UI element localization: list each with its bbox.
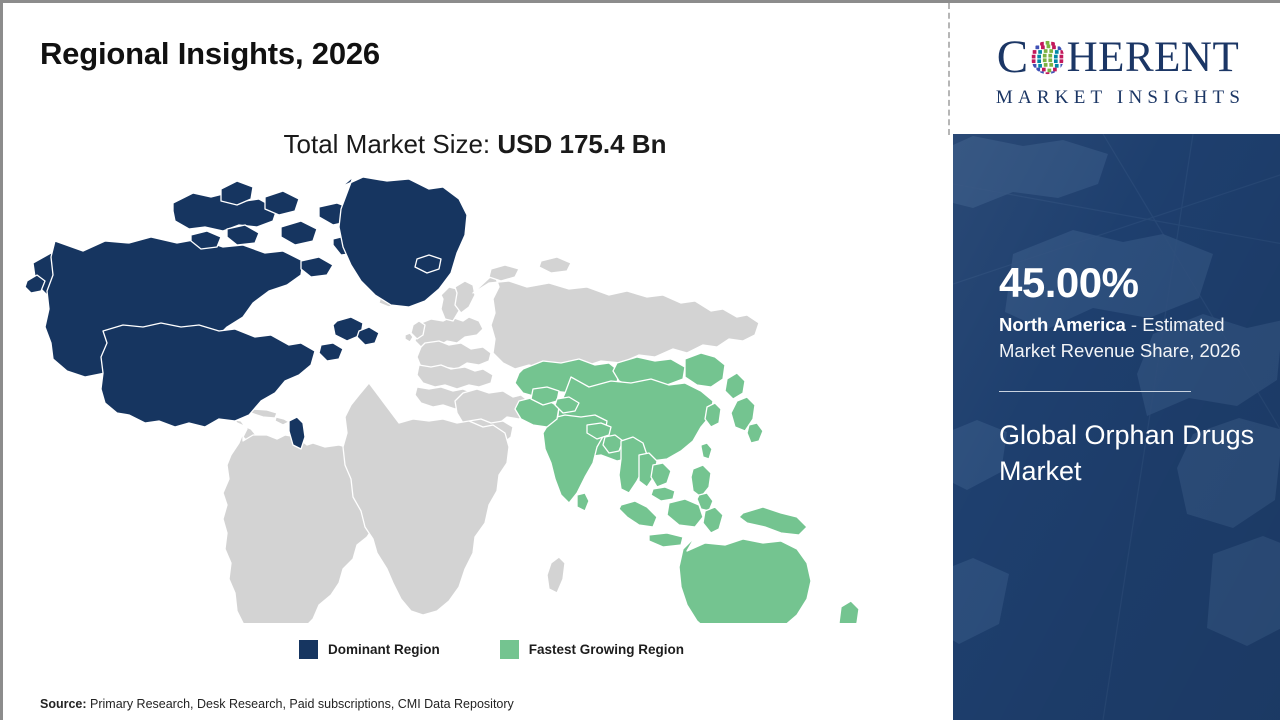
logo-letter-c: C (997, 34, 1029, 81)
map-legend: Dominant Region Fastest Growing Region (299, 640, 684, 659)
sidebar: C (953, 3, 1280, 720)
main-panel: Regional Insights, 2026 Total Market Siz… (3, 3, 947, 720)
share-description: North America - Estimated Market Revenue… (999, 312, 1261, 365)
legend-label-fastest-growing: Fastest Growing Region (529, 642, 684, 657)
share-percentage: 45.00% (999, 262, 1267, 304)
world-map (21, 173, 901, 623)
globe-dots-icon (1029, 39, 1066, 76)
legend-label-dominant: Dominant Region (328, 642, 440, 657)
sidebar-divider-rule (999, 391, 1191, 392)
source-note: Source: Primary Research, Desk Research,… (40, 697, 514, 711)
legend-swatch-fastest-growing (500, 640, 519, 659)
legend-item-fastest-growing: Fastest Growing Region (500, 640, 684, 659)
logo-wordmark: C (997, 34, 1239, 81)
infographic-root: Regional Insights, 2026 Total Market Siz… (0, 0, 1280, 720)
sidebar-content: 45.00% North America - Estimated Market … (999, 262, 1267, 489)
legend-item-dominant: Dominant Region (299, 640, 440, 659)
sidebar-body: 45.00% North America - Estimated Market … (953, 134, 1280, 720)
map-region-asia-pacific (515, 353, 865, 623)
total-market-size-label: Total Market Size: (284, 129, 498, 159)
source-text: Primary Research, Desk Research, Paid su… (87, 697, 514, 711)
map-region-north-america (25, 177, 467, 449)
legend-swatch-dominant (299, 640, 318, 659)
total-market-size: Total Market Size: USD 175.4 Bn (3, 129, 947, 160)
logo-letters-rest: HERENT (1067, 36, 1240, 79)
logo-tagline: MARKET INSIGHTS (991, 87, 1245, 109)
brand-logo: C (953, 3, 1280, 134)
share-region-name: North America (999, 314, 1126, 335)
page-title: Regional Insights, 2026 (40, 36, 380, 72)
panel-divider (948, 3, 950, 135)
source-label: Source: (40, 697, 87, 711)
market-name: Global Orphan Drugs Market (999, 418, 1267, 489)
total-market-size-value: USD 175.4 Bn (497, 129, 666, 159)
world-map-svg (21, 173, 901, 623)
